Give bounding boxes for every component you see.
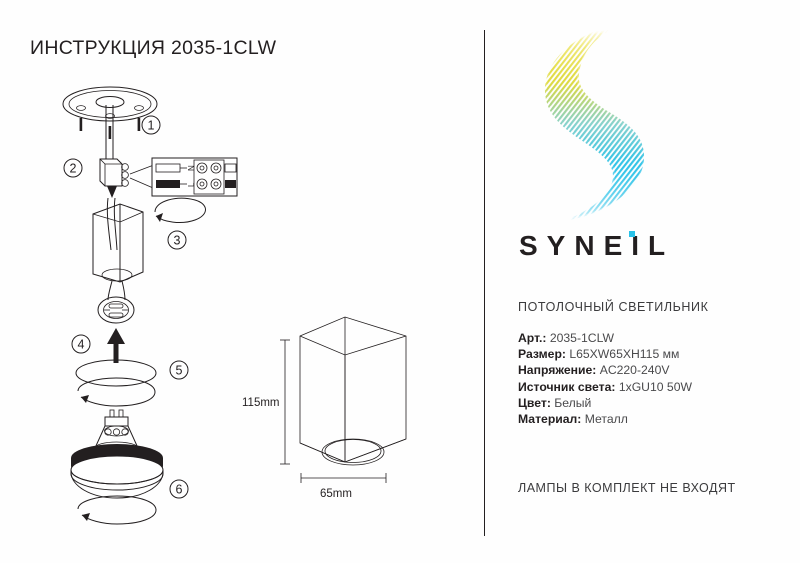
terminal-connector-group bbox=[100, 159, 128, 250]
specification-list: Арт.: 2035-1CLW Размер: L65XW65XH115 мм … bbox=[518, 330, 692, 427]
spec-key: Цвет: bbox=[518, 396, 551, 410]
vertical-divider bbox=[484, 30, 485, 536]
step-6-rotate-arrow bbox=[78, 496, 156, 524]
spec-row-voltage: Напряжение: AC220-240V bbox=[518, 362, 692, 378]
step-5-rotate-arrow bbox=[78, 378, 155, 406]
spec-row-material: Материал: Металл bbox=[518, 411, 692, 427]
ceiling-plate-group bbox=[63, 87, 157, 159]
svg-text:6: 6 bbox=[176, 483, 183, 497]
brand-wordmark-text: SYNEIL bbox=[519, 226, 729, 266]
spec-key: Размер: bbox=[518, 347, 566, 361]
step-marker-5: 5 bbox=[170, 361, 188, 379]
step-3-rotate-arrow bbox=[155, 198, 206, 222]
spec-key: Арт.: bbox=[518, 331, 546, 345]
spec-value: AC220-240V bbox=[600, 363, 670, 377]
instruction-sheet: ИНСТРУКЦИЯ 2035-1CLW bbox=[0, 0, 800, 563]
spec-row-color: Цвет: Белый bbox=[518, 395, 692, 411]
step-marker-3: 3 bbox=[168, 231, 186, 249]
brand-wordmark: SYNEIL bbox=[519, 226, 729, 266]
height-dimension-label: 115mm bbox=[242, 397, 280, 409]
terminal-block-detail: N L bbox=[130, 158, 237, 196]
terminal-neutral-label: N bbox=[187, 165, 196, 171]
terminal-live-label: L bbox=[187, 182, 196, 187]
luminaire-body-group bbox=[93, 204, 143, 282]
spec-value: L65XW65XH115 мм bbox=[569, 347, 679, 361]
svg-text:2: 2 bbox=[70, 162, 77, 176]
spec-key: Источник света: bbox=[518, 380, 615, 394]
spec-row-art: Арт.: 2035-1CLW bbox=[518, 330, 692, 346]
svg-text:5: 5 bbox=[176, 364, 183, 378]
wordmark-accent-dot-icon bbox=[629, 231, 635, 237]
spec-value: 2035-1CLW bbox=[550, 331, 614, 345]
spec-key: Напряжение: bbox=[518, 363, 596, 377]
svg-text:3: 3 bbox=[174, 234, 181, 248]
spec-key: Материал: bbox=[518, 412, 581, 426]
assembly-diagram: 1 2 bbox=[55, 82, 265, 512]
spec-row-size: Размер: L65XW65XH115 мм bbox=[518, 346, 692, 362]
product-dimension-drawing: 115mm 65mm bbox=[238, 300, 438, 515]
width-dimension: 65mm bbox=[301, 473, 386, 500]
step-4-up-arrow bbox=[107, 328, 125, 363]
spec-row-light-source: Источник света: 1xGU10 50W bbox=[518, 379, 692, 395]
step-marker-6: 6 bbox=[170, 480, 188, 498]
lamps-not-included-note: ЛАМПЫ В КОМПЛЕКТ НЕ ВХОДЯТ bbox=[518, 481, 736, 495]
width-dimension-label: 65mm bbox=[320, 488, 352, 500]
spec-value: Металл bbox=[585, 412, 628, 426]
step-marker-2: 2 bbox=[64, 159, 82, 177]
product-type-label: ПОТОЛОЧНЫЙ СВЕТИЛЬНИК bbox=[518, 300, 709, 314]
svg-text:4: 4 bbox=[78, 338, 85, 352]
spec-value: 1xGU10 50W bbox=[619, 380, 692, 394]
height-dimension: 115mm bbox=[242, 340, 290, 464]
step-marker-4: 4 bbox=[72, 335, 90, 353]
spec-value: Белый bbox=[554, 396, 591, 410]
bezel-ring-group bbox=[71, 444, 163, 498]
page-title: ИНСТРУКЦИЯ 2035-1CLW bbox=[30, 37, 276, 60]
product-box-outline bbox=[300, 317, 406, 465]
step-marker-1: 1 bbox=[142, 116, 160, 134]
lamp-socket-group bbox=[98, 281, 134, 323]
s-swoosh-logo bbox=[543, 28, 683, 226]
svg-text:1: 1 bbox=[148, 119, 155, 133]
